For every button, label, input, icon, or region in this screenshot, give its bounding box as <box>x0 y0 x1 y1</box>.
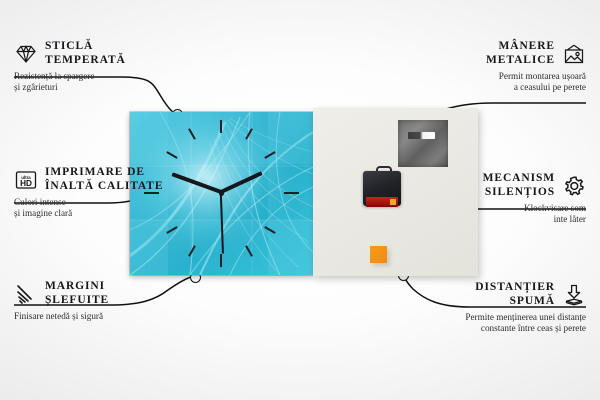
feature-title-line1: MÂNERE <box>486 40 555 54</box>
feature-sub-line2: și zgârieturi <box>14 82 126 93</box>
feature-sub-line2: inte låter <box>483 214 586 225</box>
feature-title-line2: METALICE <box>486 54 555 68</box>
feature-title-line2: ÎNALTĂ CALITATE <box>45 180 163 194</box>
infographic-canvas: STICLĂ TEMPERATĂ Rezistență la spargere … <box>0 0 600 400</box>
feature-sub-line1: Permit montarea ușoară <box>486 71 586 82</box>
battery <box>366 197 398 207</box>
clock-tick-6 <box>220 254 222 267</box>
feature-sub-line1: Culori intense <box>14 197 163 208</box>
feature-sub-line1: Finisare netedă și sigură <box>14 311 109 322</box>
feature-distantier-spuma: DISTANȚIER SPUMĂ Permite menținerea unei… <box>465 281 586 334</box>
feature-sub-line2: constante între ceas și perete <box>465 323 586 334</box>
quartz-mechanism <box>363 166 401 206</box>
ultra-hd-icon: ultra HD <box>14 168 38 192</box>
feature-sub-line2: și imagine clară <box>14 208 163 219</box>
battery-plus-terminal <box>390 199 396 205</box>
ultra-hd-icon-big-label: HD <box>20 179 32 188</box>
feature-title-line1: STICLĂ <box>45 40 126 54</box>
feature-mecanism-silentios: MECANISM SILENȚIOS Klockvisare som inte … <box>483 172 586 225</box>
feature-sub-line1: Klockvisare som <box>483 203 586 214</box>
feature-title-line2: ȘLEFUITE <box>45 294 109 308</box>
arrow-down-pad-icon <box>562 283 586 307</box>
feature-title-line1: MARGINI <box>45 280 109 294</box>
mechanism-body <box>363 171 401 206</box>
feature-sub-line1: Permite menținerea unei distanțe <box>465 312 586 323</box>
feature-title-line2: TEMPERATĂ <box>45 54 126 68</box>
bevelled-edge-icon <box>14 282 38 306</box>
picture-hanger-icon <box>562 42 586 66</box>
metal-hanger <box>398 120 448 167</box>
foam-spacer <box>370 246 387 263</box>
feature-title-line1: MECANISM <box>483 172 555 186</box>
feature-sticla-temperata: STICLĂ TEMPERATĂ Rezistență la spargere … <box>14 40 126 93</box>
clock-center-hub <box>219 191 224 196</box>
feature-sub-line1: Rezistență la spargere <box>14 71 126 82</box>
feature-title-line1: IMPRIMARE DE <box>45 166 163 180</box>
wall-clock-back <box>313 108 478 276</box>
feature-title-line2: SPUMĂ <box>475 295 555 309</box>
diamond-icon <box>14 42 38 66</box>
clock-tick-12 <box>220 120 222 133</box>
feature-margini-slefuite: MARGINI ȘLEFUITE Finisare netedă și sigu… <box>14 280 109 322</box>
feature-title-line1: DISTANȚIER <box>475 281 555 295</box>
feature-sub-line2: a ceasului pe perete <box>486 82 586 93</box>
feature-manere-metalice: MÂNERE METALICE Permit montarea ușoară a… <box>486 40 586 93</box>
hanger-slot <box>408 132 435 139</box>
gear-icon <box>562 174 586 198</box>
feature-title-line2: SILENȚIOS <box>483 186 555 200</box>
feature-imprimare-hd: ultra HD IMPRIMARE DE ÎNALTĂ CALITATE Cu… <box>14 166 163 219</box>
clock-tick-3 <box>284 192 299 194</box>
